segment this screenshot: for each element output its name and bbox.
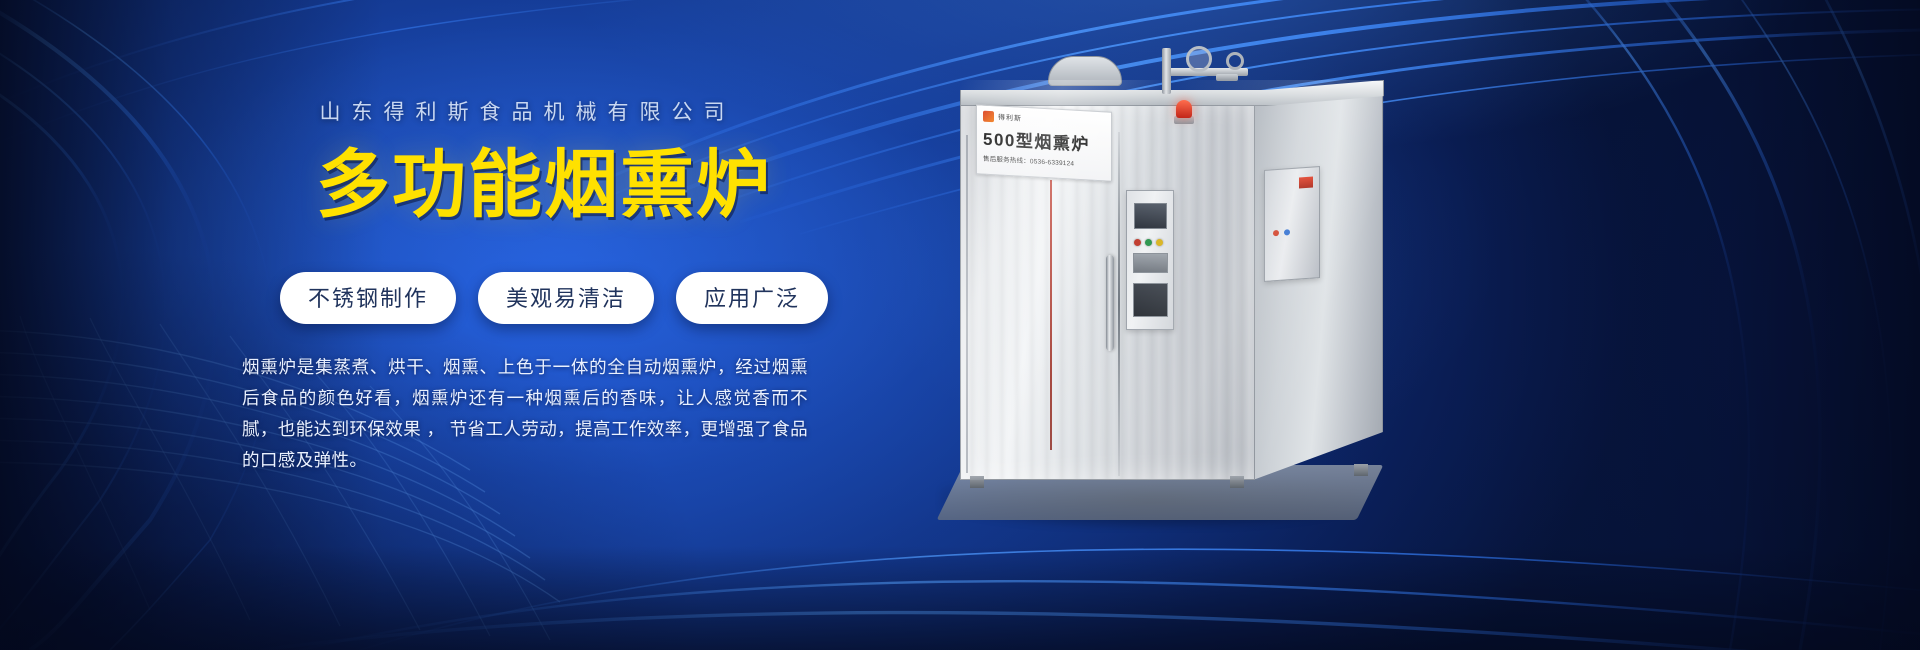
machine-valve-wheel-small: [1226, 52, 1244, 70]
switch-blue-icon: [1284, 229, 1290, 235]
machine-foot-center: [1230, 476, 1244, 488]
machine-electrical-cabinet: [1264, 166, 1320, 282]
switch-red-icon: [1273, 230, 1279, 236]
machine-pipe-vertical: [1162, 48, 1171, 94]
product-photo-smokehouse-oven: 得利斯 500型烟熏炉 售后服务热线：0536-6339124: [930, 40, 1490, 540]
machine-control-display: [1134, 203, 1167, 229]
machine-ebox-switches: [1273, 229, 1290, 236]
feature-pill-wide-use[interactable]: 应用广泛: [676, 272, 828, 324]
page-title: 多功能烟熏炉: [274, 148, 814, 222]
machine-brand-text: 得利斯: [998, 112, 1022, 123]
product-hero-banner: 得利斯 500型烟熏炉 售后服务热线：0536-6339124: [0, 0, 1920, 650]
machine-name-plate: 得利斯 500型烟熏炉 售后服务热线：0536-6339124: [976, 104, 1112, 182]
machine-ebox-label: [1299, 177, 1313, 189]
feature-pill-row: 不锈钢制作 美观易清洁 应用广泛: [242, 272, 842, 324]
feature-pill-stainless[interactable]: 不锈钢制作: [280, 272, 456, 324]
indicator-yellow-icon: [1156, 239, 1163, 246]
brand-logo-icon: [983, 111, 994, 123]
machine-door-handle: [1106, 255, 1114, 351]
company-name: 山东得利斯食品机械有限公司: [262, 96, 782, 126]
machine-foot-right: [1354, 464, 1368, 476]
machine-exhaust-stack: [1048, 56, 1122, 86]
machine-pipe-flange: [1216, 74, 1238, 81]
machine-foot-left: [970, 476, 984, 488]
machine-valve-wheel: [1186, 46, 1212, 72]
machine-warning-beacon-light: [1176, 100, 1192, 118]
machine-control-panel-lower: [1133, 283, 1168, 317]
indicator-green-icon: [1145, 239, 1152, 246]
machine-control-box: [1126, 190, 1174, 330]
indicator-red-icon: [1134, 239, 1141, 246]
machine-door-hinge-seam: [966, 135, 968, 473]
machine-door-seam: [1118, 132, 1120, 476]
product-description: 烟熏炉是集蒸煮、烘干、烟熏、上色于一体的全自动烟熏炉，经过烟熏后食品的颜色好看，…: [242, 352, 808, 477]
machine-control-panel-upper: [1133, 253, 1168, 273]
machine-control-indicators: [1134, 239, 1163, 246]
hero-text-block: 山东得利斯食品机械有限公司 多功能烟熏炉 不锈钢制作 美观易清洁 应用广泛 烟熏…: [242, 96, 842, 494]
machine-model-title: 500型烟熏炉: [983, 125, 1105, 157]
machine-red-cable: [1050, 180, 1052, 450]
feature-pill-easy-clean[interactable]: 美观易清洁: [478, 272, 654, 324]
